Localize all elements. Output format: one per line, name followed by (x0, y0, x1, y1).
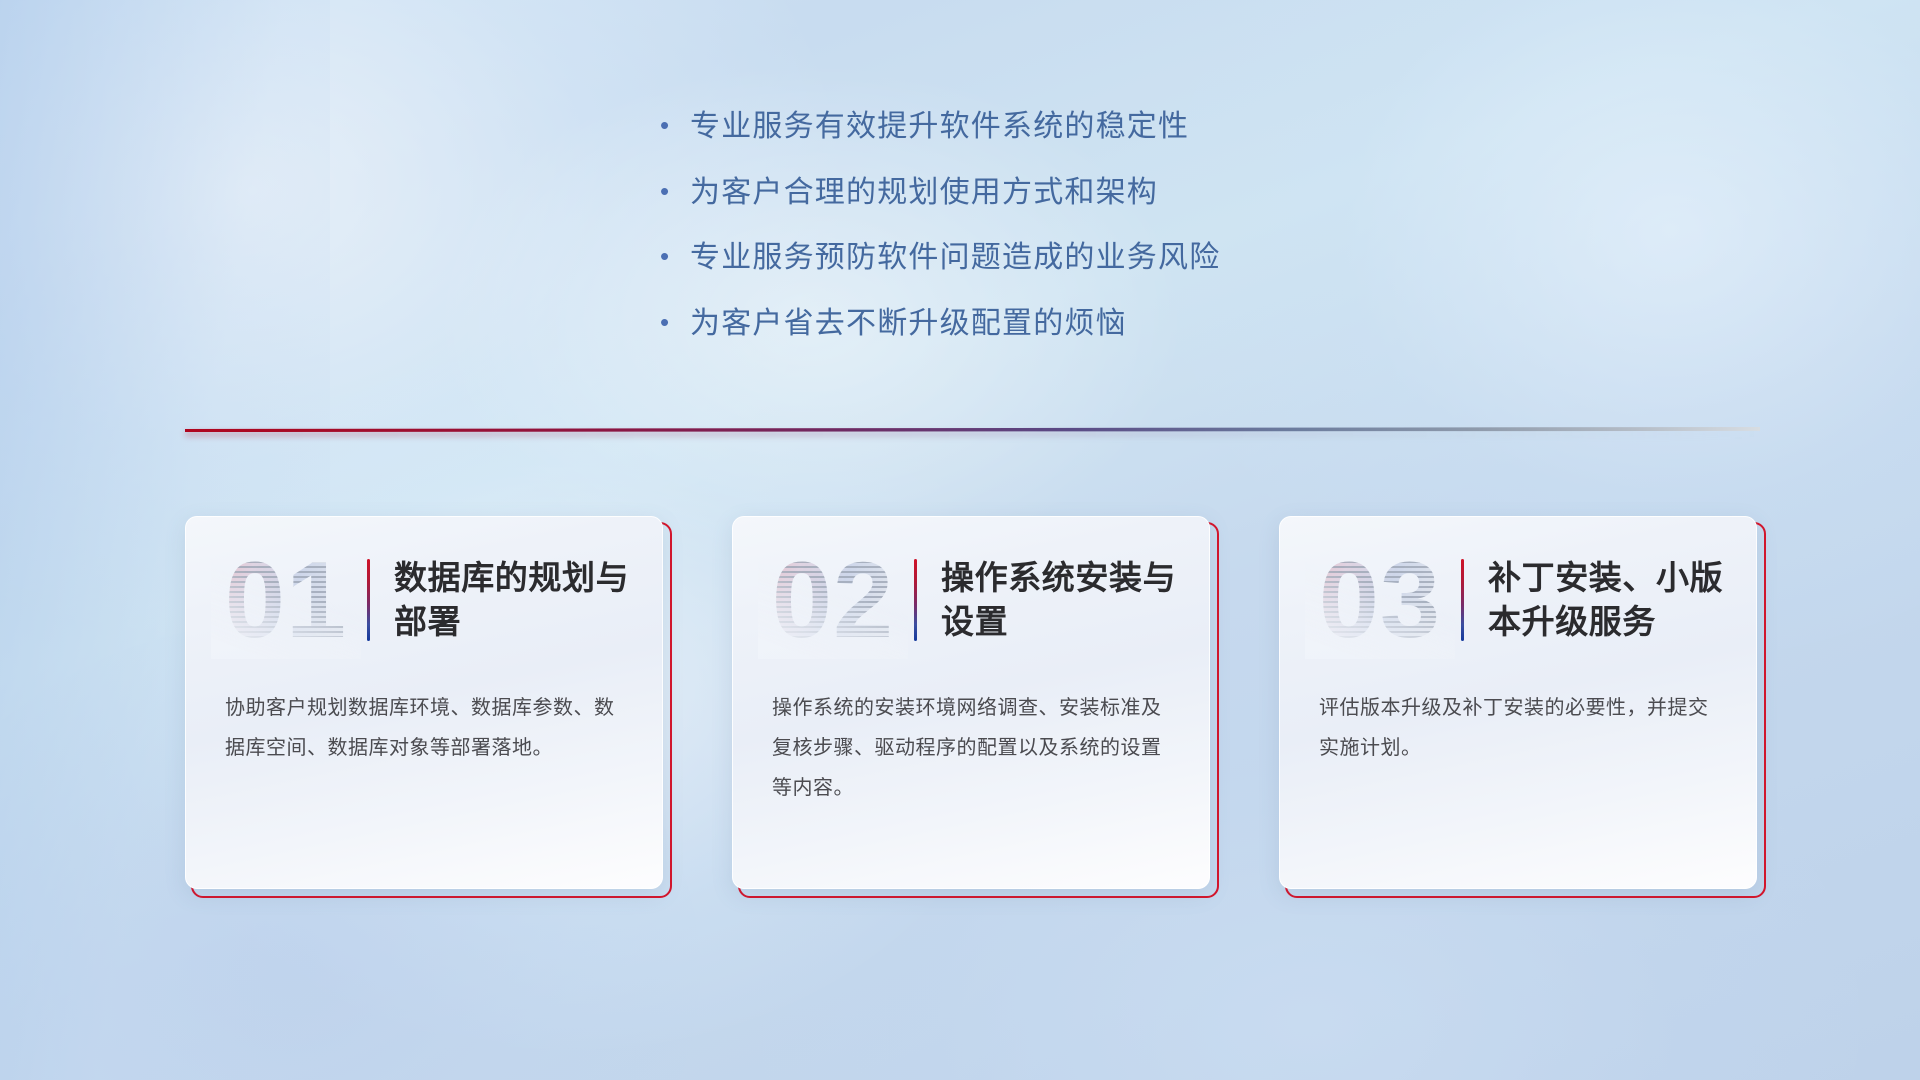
bullet-item-label: 为客户合理的规划使用方式和架构 (690, 174, 1158, 212)
service-card-01[interactable]: 01 数据库的规划与部署 协助客户规划数据库环境、数据库参数、数据库空间、数据库… (185, 516, 672, 898)
list-item: 为客户省去不断升级配置的烦恼 (660, 305, 1420, 343)
service-card-group: 01 数据库的规划与部署 协助客户规划数据库环境、数据库参数、数据库空间、数据库… (185, 516, 1785, 906)
section-divider (185, 424, 1760, 438)
card-number-highlight (1305, 541, 1455, 659)
card-number-highlight (211, 541, 361, 659)
card-surface: 03 补丁安装、小版本升级服务 评估版本升级及补丁安装的必要性，并提交实施计划。 (1279, 516, 1757, 889)
bullet-dot-icon (660, 112, 690, 138)
card-divider-rule (367, 559, 370, 641)
card-body-text: 操作系统的安装环境网络调查、安装标准及复核步骤、驱动程序的配置以及系统的设置等内… (772, 688, 1176, 808)
section-divider-glow (185, 431, 1760, 437)
benefits-bullet-list: 专业服务有效提升软件系统的稳定性 为客户合理的规划使用方式和架构 专业服务预防软… (660, 108, 1420, 370)
list-item: 专业服务预防软件问题造成的业务风险 (660, 239, 1420, 277)
card-surface: 01 数据库的规划与部署 协助客户规划数据库环境、数据库参数、数据库空间、数据库… (185, 516, 663, 889)
slide-canvas: 专业服务有效提升软件系统的稳定性 为客户合理的规划使用方式和架构 专业服务预防软… (0, 0, 1920, 1080)
card-number-watermark: 02 (758, 541, 908, 659)
card-title: 操作系统安装与设置 (941, 556, 1210, 643)
list-item: 为客户合理的规划使用方式和架构 (660, 174, 1420, 212)
card-title: 补丁安装、小版本升级服务 (1488, 556, 1757, 643)
service-card-03[interactable]: 03 补丁安装、小版本升级服务 评估版本升级及补丁安装的必要性，并提交实施计划。 (1279, 516, 1766, 898)
bullet-item-label: 为客户省去不断升级配置的烦恼 (690, 305, 1127, 343)
bullet-item-label: 专业服务有效提升软件系统的稳定性 (690, 108, 1189, 146)
card-number-watermark: 01 (211, 541, 361, 659)
card-title: 数据库的规划与部署 (394, 556, 663, 643)
bullet-dot-icon (660, 178, 690, 204)
card-surface: 02 操作系统安装与设置 操作系统的安装环境网络调查、安装标准及复核步骤、驱动程… (732, 516, 1210, 889)
list-item: 专业服务有效提升软件系统的稳定性 (660, 108, 1420, 146)
service-card-02[interactable]: 02 操作系统安装与设置 操作系统的安装环境网络调查、安装标准及复核步骤、驱动程… (732, 516, 1219, 898)
card-body-text: 评估版本升级及补丁安装的必要性，并提交实施计划。 (1319, 688, 1723, 768)
card-body-text: 协助客户规划数据库环境、数据库参数、数据库空间、数据库对象等部署落地。 (225, 688, 629, 768)
card-header: 01 数据库的规划与部署 (185, 540, 663, 660)
bullet-dot-icon (660, 309, 690, 335)
card-number-watermark: 03 (1305, 541, 1455, 659)
card-header: 03 补丁安装、小版本升级服务 (1279, 540, 1757, 660)
bullet-dot-icon (660, 243, 690, 269)
card-divider-rule (1461, 559, 1464, 641)
card-number-highlight (758, 541, 908, 659)
card-divider-rule (914, 559, 917, 641)
bullet-item-label: 专业服务预防软件问题造成的业务风险 (690, 239, 1220, 277)
card-header: 02 操作系统安装与设置 (732, 540, 1210, 660)
